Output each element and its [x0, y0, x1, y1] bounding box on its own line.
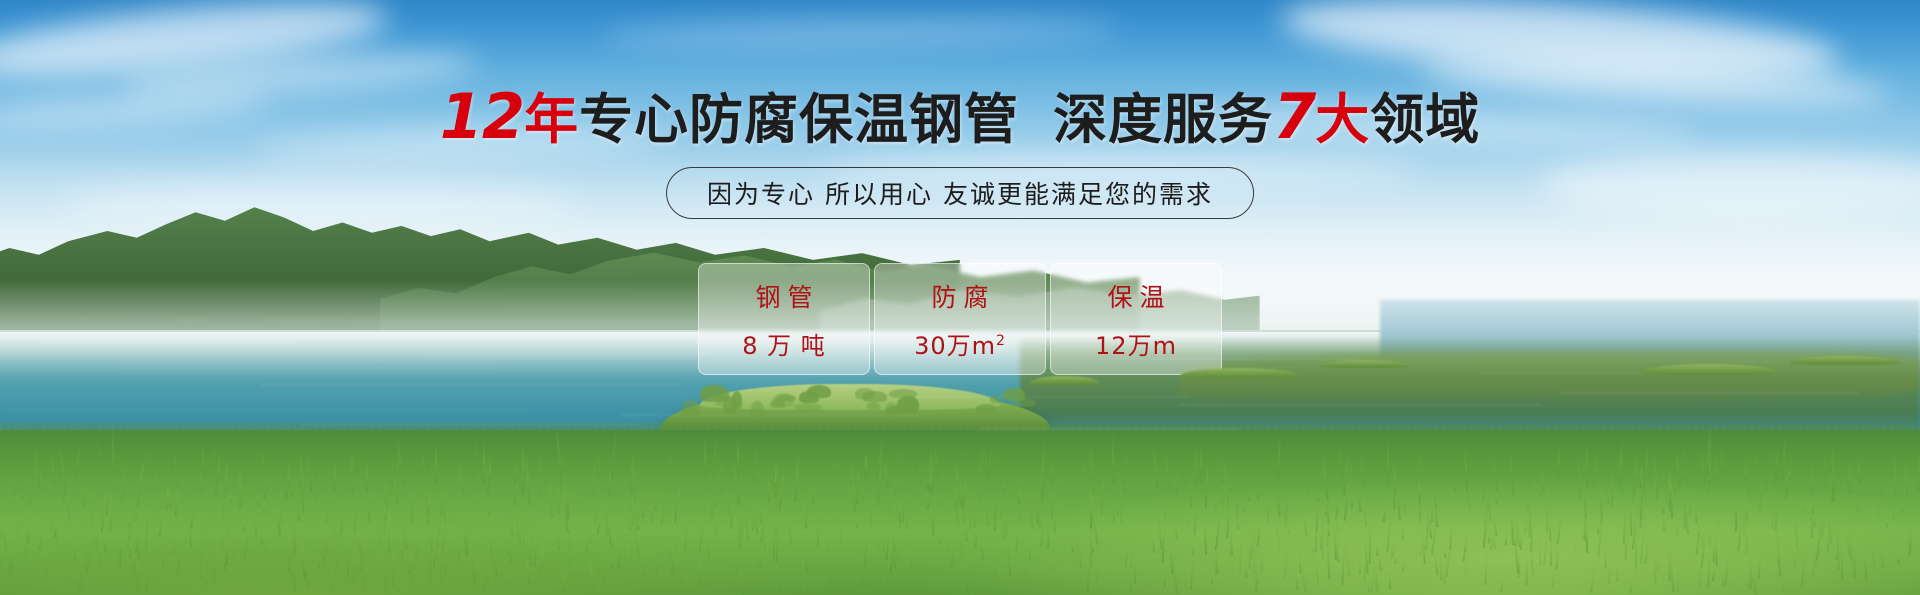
- grass-blade: [368, 498, 371, 522]
- grass-blade: [1489, 483, 1491, 492]
- small-islet: [1030, 376, 1100, 385]
- small-islet: [1320, 360, 1410, 368]
- grass-blade: [1841, 528, 1843, 579]
- grass-blade: [103, 530, 105, 552]
- grass-blade: [551, 556, 553, 578]
- grass-blade: [1119, 471, 1122, 522]
- grass-blade: [937, 562, 939, 570]
- grass-blade: [1546, 478, 1548, 532]
- water-ripple: [1560, 392, 1860, 394]
- grass-blade: [715, 508, 717, 535]
- water-ripple: [420, 352, 720, 354]
- grass-blade: [238, 466, 240, 509]
- grass-blade: [856, 518, 858, 528]
- grass-blade: [1025, 562, 1027, 576]
- stat-label: 钢管: [748, 278, 819, 314]
- grass-blade: [1210, 572, 1212, 584]
- islet-grass-tuft: [777, 395, 796, 401]
- grass-blade: [354, 513, 356, 532]
- water-ripple: [300, 424, 640, 426]
- grass-blade: [299, 449, 301, 487]
- water-ripple: [260, 384, 680, 386]
- hero-banner: 12年专心防腐保温钢管深度服务7大领域 因为专心 所以用心 友诚更能满足您的需求…: [0, 0, 1920, 595]
- grass-blade: [1043, 437, 1045, 477]
- grass-blade: [558, 478, 560, 513]
- grass-blade: [44, 539, 46, 578]
- grass-blade: [1717, 517, 1719, 525]
- grass-blade: [486, 552, 488, 585]
- water-ripple: [10, 408, 530, 410]
- small-islet: [1640, 364, 1780, 375]
- islet-grass-tuft: [886, 402, 898, 418]
- stat-value-superscript: 2: [996, 333, 1006, 349]
- grass-blade: [767, 478, 769, 502]
- grass-blade: [1815, 548, 1817, 567]
- grass-blade: [1328, 520, 1330, 535]
- grass-blade: [510, 493, 513, 538]
- grass-blade: [156, 463, 158, 491]
- grass-blade: [1082, 461, 1085, 479]
- grass-blade: [1771, 500, 1774, 529]
- stat-card-steel-pipe[interactable]: 钢管 8 万 吨: [698, 263, 870, 375]
- grass-blade: [1276, 526, 1278, 536]
- water-ripple: [120, 366, 500, 368]
- small-islet: [1790, 356, 1900, 365]
- stat-label: 保温: [1100, 278, 1171, 314]
- grass-blade: [1236, 473, 1238, 517]
- water-ripple: [620, 414, 920, 416]
- headline-fields-suffix: 大: [1315, 88, 1370, 151]
- grass-blade: [63, 570, 66, 580]
- grass-blade: [1295, 569, 1297, 590]
- stat-value-text: 30万m: [914, 332, 996, 360]
- grass-blade: [1885, 517, 1888, 526]
- grass-blade: [704, 438, 706, 480]
- grass-blade: [1639, 464, 1642, 488]
- grass-blade: [204, 513, 206, 530]
- grass-blade: [770, 473, 773, 483]
- headline-years-number: 12: [440, 80, 524, 153]
- grass-blade: [883, 574, 886, 588]
- grass-blade: [290, 475, 293, 496]
- grass-blade: [1909, 538, 1911, 553]
- islet-grass-tuft: [867, 402, 880, 410]
- water-ripple: [40, 340, 300, 342]
- headline-part3: 领域: [1370, 88, 1480, 151]
- grass-blade: [802, 581, 805, 594]
- grass-blade: [1260, 552, 1262, 572]
- grass-blade: [1525, 555, 1528, 585]
- grass-blade: [1584, 488, 1586, 541]
- stat-card-anticorrosion[interactable]: 防腐 30万m2: [874, 263, 1046, 375]
- grass-blade: [906, 500, 908, 530]
- islet-grass-tuft: [807, 385, 831, 398]
- islet-grass-tuft: [990, 395, 1001, 403]
- grass-blade: [1552, 567, 1554, 587]
- grass-blade: [534, 526, 536, 567]
- subtitle-pill: 因为专心 所以用心 友诚更能满足您的需求: [666, 167, 1254, 219]
- islet-grass-tuft: [751, 401, 763, 419]
- grass-blade: [675, 535, 678, 549]
- grass-blade: [392, 538, 395, 586]
- grass-blade: [1147, 489, 1149, 498]
- water-ripple: [1100, 358, 1360, 360]
- grass-blade: [1752, 472, 1755, 485]
- stat-value: 12万m: [1095, 326, 1177, 361]
- grass-blade: [973, 501, 976, 528]
- grass-blade: [1683, 475, 1685, 529]
- grass-blade: [719, 456, 722, 493]
- grass-blade: [817, 512, 819, 547]
- water-ripple: [980, 428, 1240, 430]
- headline-years-suffix: 年: [524, 88, 579, 151]
- grass-blade: [1573, 542, 1575, 551]
- grass-blade: [1387, 440, 1389, 484]
- headline-fields-number: 7: [1273, 80, 1315, 153]
- headline: 12年专心防腐保温钢管深度服务7大领域: [0, 88, 1920, 149]
- grass-blade: [1505, 534, 1507, 545]
- stat-value: 30万m2: [914, 326, 1006, 361]
- grass-blade: [489, 455, 491, 488]
- subtitle-text: 因为专心 所以用心 友诚更能满足您的需求: [707, 175, 1213, 211]
- grass-blade: [1358, 558, 1360, 574]
- grass-blade: [1812, 500, 1814, 514]
- small-islet: [1180, 368, 1300, 378]
- islet-grass-tuft: [682, 400, 700, 416]
- grass-blade: [522, 440, 524, 494]
- grass-blade: [772, 514, 774, 559]
- grass-blade: [1402, 526, 1404, 539]
- water-ripple: [700, 344, 910, 346]
- grass-blade: [703, 541, 705, 559]
- grass-blade: [388, 504, 390, 553]
- grass-blade: [1017, 486, 1019, 504]
- grass-blade: [1464, 562, 1467, 573]
- grass-blade: [284, 480, 286, 495]
- headline-part2: 深度服务: [1053, 88, 1273, 151]
- islet-grass-tuft: [907, 396, 917, 412]
- islet-grass-tuft: [794, 403, 822, 411]
- islet-grass-tuft: [1003, 388, 1025, 401]
- grass-blade: [1247, 487, 1250, 502]
- islet-grass-tuft: [732, 391, 743, 409]
- stat-label: 防腐: [924, 278, 995, 314]
- grass-blade: [1440, 541, 1442, 580]
- grass-blade: [539, 451, 541, 497]
- grass-blade: [1674, 479, 1676, 493]
- grass-blade: [1237, 519, 1239, 529]
- water-ripple: [1180, 404, 1540, 406]
- grass-blade: [1376, 545, 1378, 556]
- grass-blade: [1653, 549, 1656, 585]
- headline-part1: 专心防腐保温钢管: [579, 88, 1019, 151]
- grass-blade: [434, 442, 437, 485]
- stat-value: 8 万 吨: [742, 326, 826, 361]
- grass-blade: [1164, 570, 1166, 586]
- grass-blade: [351, 452, 354, 476]
- islet-grass-tuft: [862, 391, 887, 402]
- islet-grass-tuft: [889, 389, 917, 398]
- islet-grass-tuft: [976, 404, 996, 412]
